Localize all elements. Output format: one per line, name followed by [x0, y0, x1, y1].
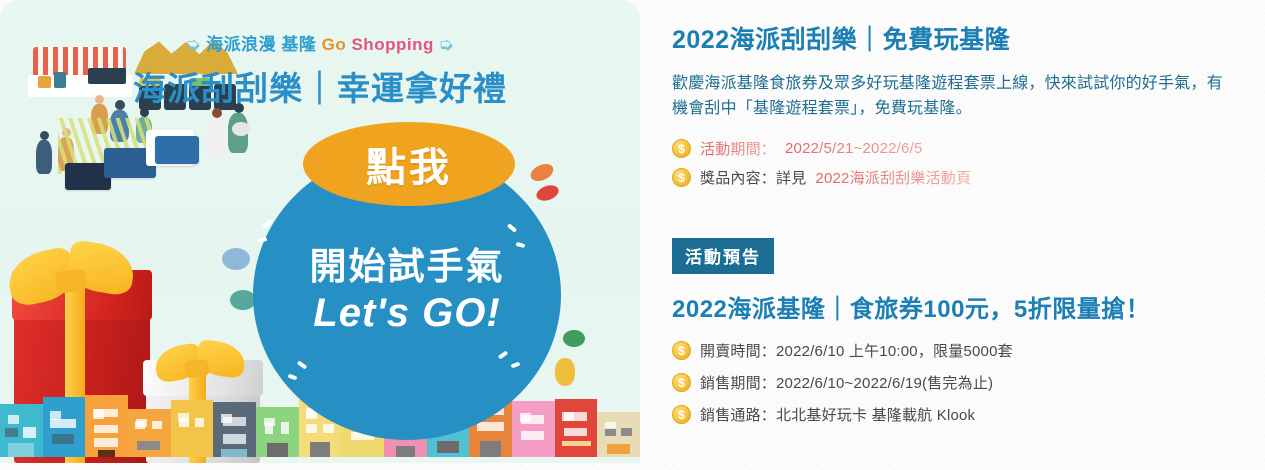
- promo-info-panel: 2022海派刮刮樂｜免費玩基隆 歡慶海派基隆食旅券及眾多好玩基隆遊程套票上線，快…: [640, 0, 1265, 436]
- page-title: 2022海派刮刮樂｜免費玩基隆: [672, 24, 1235, 57]
- house: [85, 395, 128, 457]
- house: [43, 397, 86, 457]
- gift-bow-knot: [55, 268, 88, 294]
- activity-info-list: $ 活動期間：2022/5/21~2022/6/5 $ 獎品內容：詳見2022海…: [672, 138, 1235, 188]
- activity-period-value: 2022/5/21~2022/6/5: [785, 140, 922, 157]
- kicker-part-4: Shopping: [351, 35, 433, 54]
- section-title: 2022海派基隆｜食旅券100元，5折限量搶！: [672, 289, 1235, 324]
- coin-icon: $: [672, 405, 691, 424]
- sale-period: 銷售期間：2022/6/10~2022/6/19(售完為止): [700, 372, 993, 393]
- presale-info-list: $ 開賣時間：2022/6/10 上午10:00，限量5000套 $ 銷售期間：…: [672, 340, 1235, 425]
- decor-blob: [534, 182, 560, 203]
- coin-icon: $: [672, 139, 691, 158]
- list-item: $ 開賣時間：2022/6/10 上午10:00，限量5000套: [672, 340, 1235, 361]
- house: [128, 409, 171, 457]
- list-item: $ 銷售通路：北北基好玩卡 基隆載航 Klook: [672, 404, 1235, 425]
- scratch-card-banner[interactable]: ➭ 海派浪漫 基隆 Go Shopping ➭ 海派刮刮樂｜幸運拿好禮 點我 開…: [0, 0, 640, 463]
- scratch-cta-line-2: Let's GO!: [253, 291, 561, 336]
- promo-description: 歡慶海派基隆食旅券及眾多好玩基隆遊程套票上線，快來試試你的好手氣，有機會刮中「基…: [672, 71, 1235, 123]
- activity-period-label: 活動期間：: [700, 138, 776, 159]
- fish-tail-icon-left: ➭: [185, 34, 201, 56]
- kicker-part-1: 海派浪漫: [206, 35, 276, 54]
- sale-start-time: 開賣時間：2022/6/10 上午10:00，限量5000套: [700, 340, 1013, 361]
- shopper-figure: [36, 140, 52, 174]
- prize-content-label: 獎品內容：詳見: [700, 167, 806, 188]
- shopper-figure: [206, 118, 226, 158]
- scratch-cta-pill-label: 點我: [366, 135, 452, 193]
- house: [0, 404, 43, 457]
- house: [213, 402, 256, 457]
- house: [171, 400, 214, 457]
- house: [256, 407, 299, 457]
- decor-blob: [563, 330, 585, 347]
- house: [512, 401, 555, 457]
- coin-icon: $: [672, 168, 691, 187]
- kicker-part-2: 基隆: [281, 35, 316, 54]
- scratch-cta-pill[interactable]: 點我: [303, 122, 515, 206]
- list-item: $ 獎品內容：詳見2022海派刮刮樂活動頁: [672, 167, 1235, 188]
- banner-title: 海派刮刮樂｜幸運拿好禮: [0, 62, 640, 110]
- promo-page-layout: ➭ 海派浪漫 基隆 Go Shopping ➭ 海派刮刮樂｜幸運拿好禮 點我 開…: [0, 0, 1265, 470]
- scratch-cta-line-1: 開始試手氣: [253, 236, 561, 290]
- list-item: $ 活動期間：2022/5/21~2022/6/5: [672, 138, 1235, 159]
- decor-blob: [222, 248, 250, 270]
- list-item: $ 銷售期間：2022/6/10~2022/6/19(售完為止): [672, 372, 1235, 393]
- decor-blob: [555, 358, 575, 386]
- coin-icon: $: [672, 373, 691, 392]
- decor-blob: [232, 122, 250, 136]
- house: [555, 399, 598, 457]
- prize-content-link[interactable]: 2022海派刮刮樂活動頁: [815, 167, 971, 188]
- status-badge: 活動預告: [672, 238, 774, 274]
- sale-channels: 銷售通路：北北基好玩卡 基隆載航 Klook: [700, 404, 975, 425]
- gift-bow-knot: [184, 359, 210, 378]
- fish-tail-icon-right: ➭: [438, 34, 454, 56]
- travel-card: [155, 136, 199, 164]
- banner-kicker: ➭ 海派浪漫 基隆 Go Shopping ➭: [0, 30, 640, 55]
- shopper-head: [40, 131, 49, 140]
- coin-icon: $: [672, 341, 691, 360]
- house: [597, 412, 640, 457]
- kicker-part-3: Go: [322, 35, 347, 54]
- decor-blob: [528, 161, 556, 185]
